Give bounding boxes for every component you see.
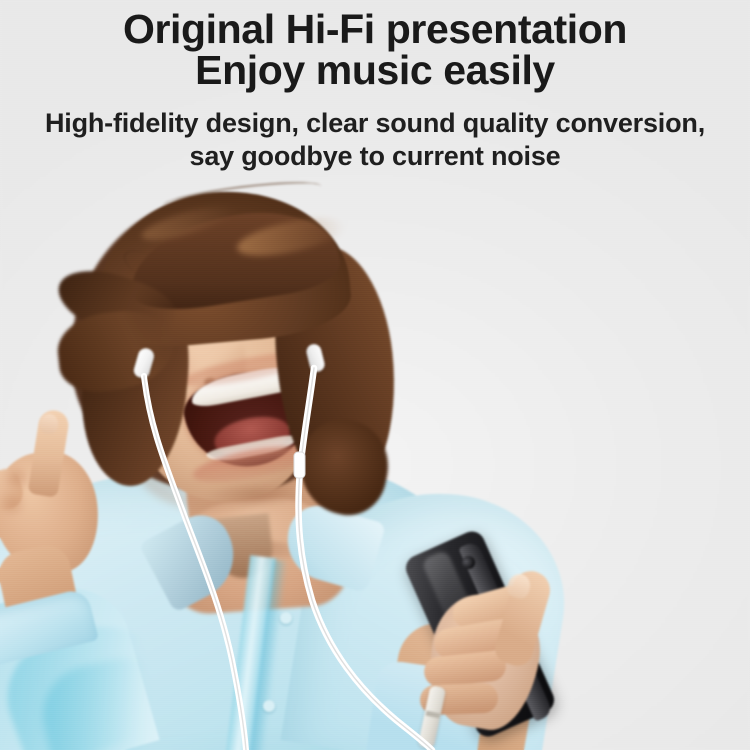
headline-line-1: Original Hi-Fi presentation <box>0 9 750 50</box>
subhead-line-2: say goodbye to current noise <box>0 140 750 173</box>
chin-shadow <box>208 482 304 508</box>
headline-block: Original Hi-Fi presentation Enjoy music … <box>0 0 750 185</box>
headline-line-2: Enjoy music easily <box>0 50 750 91</box>
subhead-line-1: High-fidelity design, clear sound qualit… <box>0 107 750 140</box>
shirt-button <box>263 700 275 712</box>
shirt-button <box>280 612 292 624</box>
promo-banner: Original Hi-Fi presentation Enjoy music … <box>0 0 750 750</box>
